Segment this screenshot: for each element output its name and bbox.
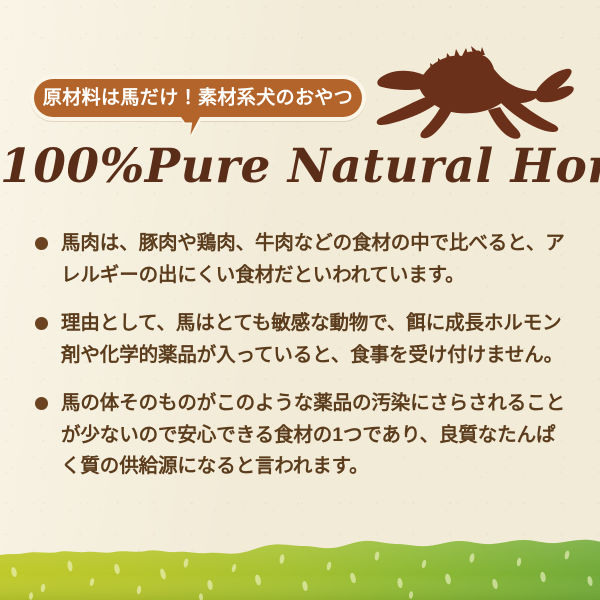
banner-label: 原材料は馬だけ！素材系犬のおやつ [43,88,353,107]
banner-fill: 原材料は馬だけ！素材系犬のおやつ [34,79,362,117]
poster-canvas: 原材料は馬だけ！素材系犬のおやつ [0,0,600,600]
headline-banner: 原材料は馬だけ！素材系犬のおやつ [30,75,366,121]
filled-circle-bullet-icon [35,317,48,330]
list-item: 馬の体そのものがこのような薬品の汚染にさらされることが少ないので安心できる食材の… [33,388,573,483]
speech-bubble-tail-icon [178,117,204,139]
list-item: 理由として、馬はとても敏感な動物で、餌に成長ホルモン剤や化学的薬品が入っていると… [33,308,573,371]
feature-bullet-list: 馬肉は、豚肉や鶏肉、牛肉などの食材の中で比べると、アレルギーの出にくい食材だとい… [33,228,573,483]
list-item-text: 馬の体そのものがこのような薬品の汚染にさらされることが少ないので安心できる食材の… [61,392,565,477]
list-item-text: 馬肉は、豚肉や鶏肉、牛肉などの食材の中で比べると、アレルギーの出にくい食材だとい… [61,232,565,286]
grass-field-icon [0,522,600,600]
running-horse-silhouette-icon [370,44,575,144]
filled-circle-bullet-icon [35,397,48,410]
filled-circle-bullet-icon [35,237,48,250]
list-item: 馬肉は、豚肉や鶏肉、牛肉などの食材の中で比べると、アレルギーの出にくい食材だとい… [33,228,573,291]
page-title: 100%Pure Natural Horse [0,142,600,193]
list-item-text: 理由として、馬はとても敏感な動物で、餌に成長ホルモン剤や化学的薬品が入っていると… [61,312,563,366]
